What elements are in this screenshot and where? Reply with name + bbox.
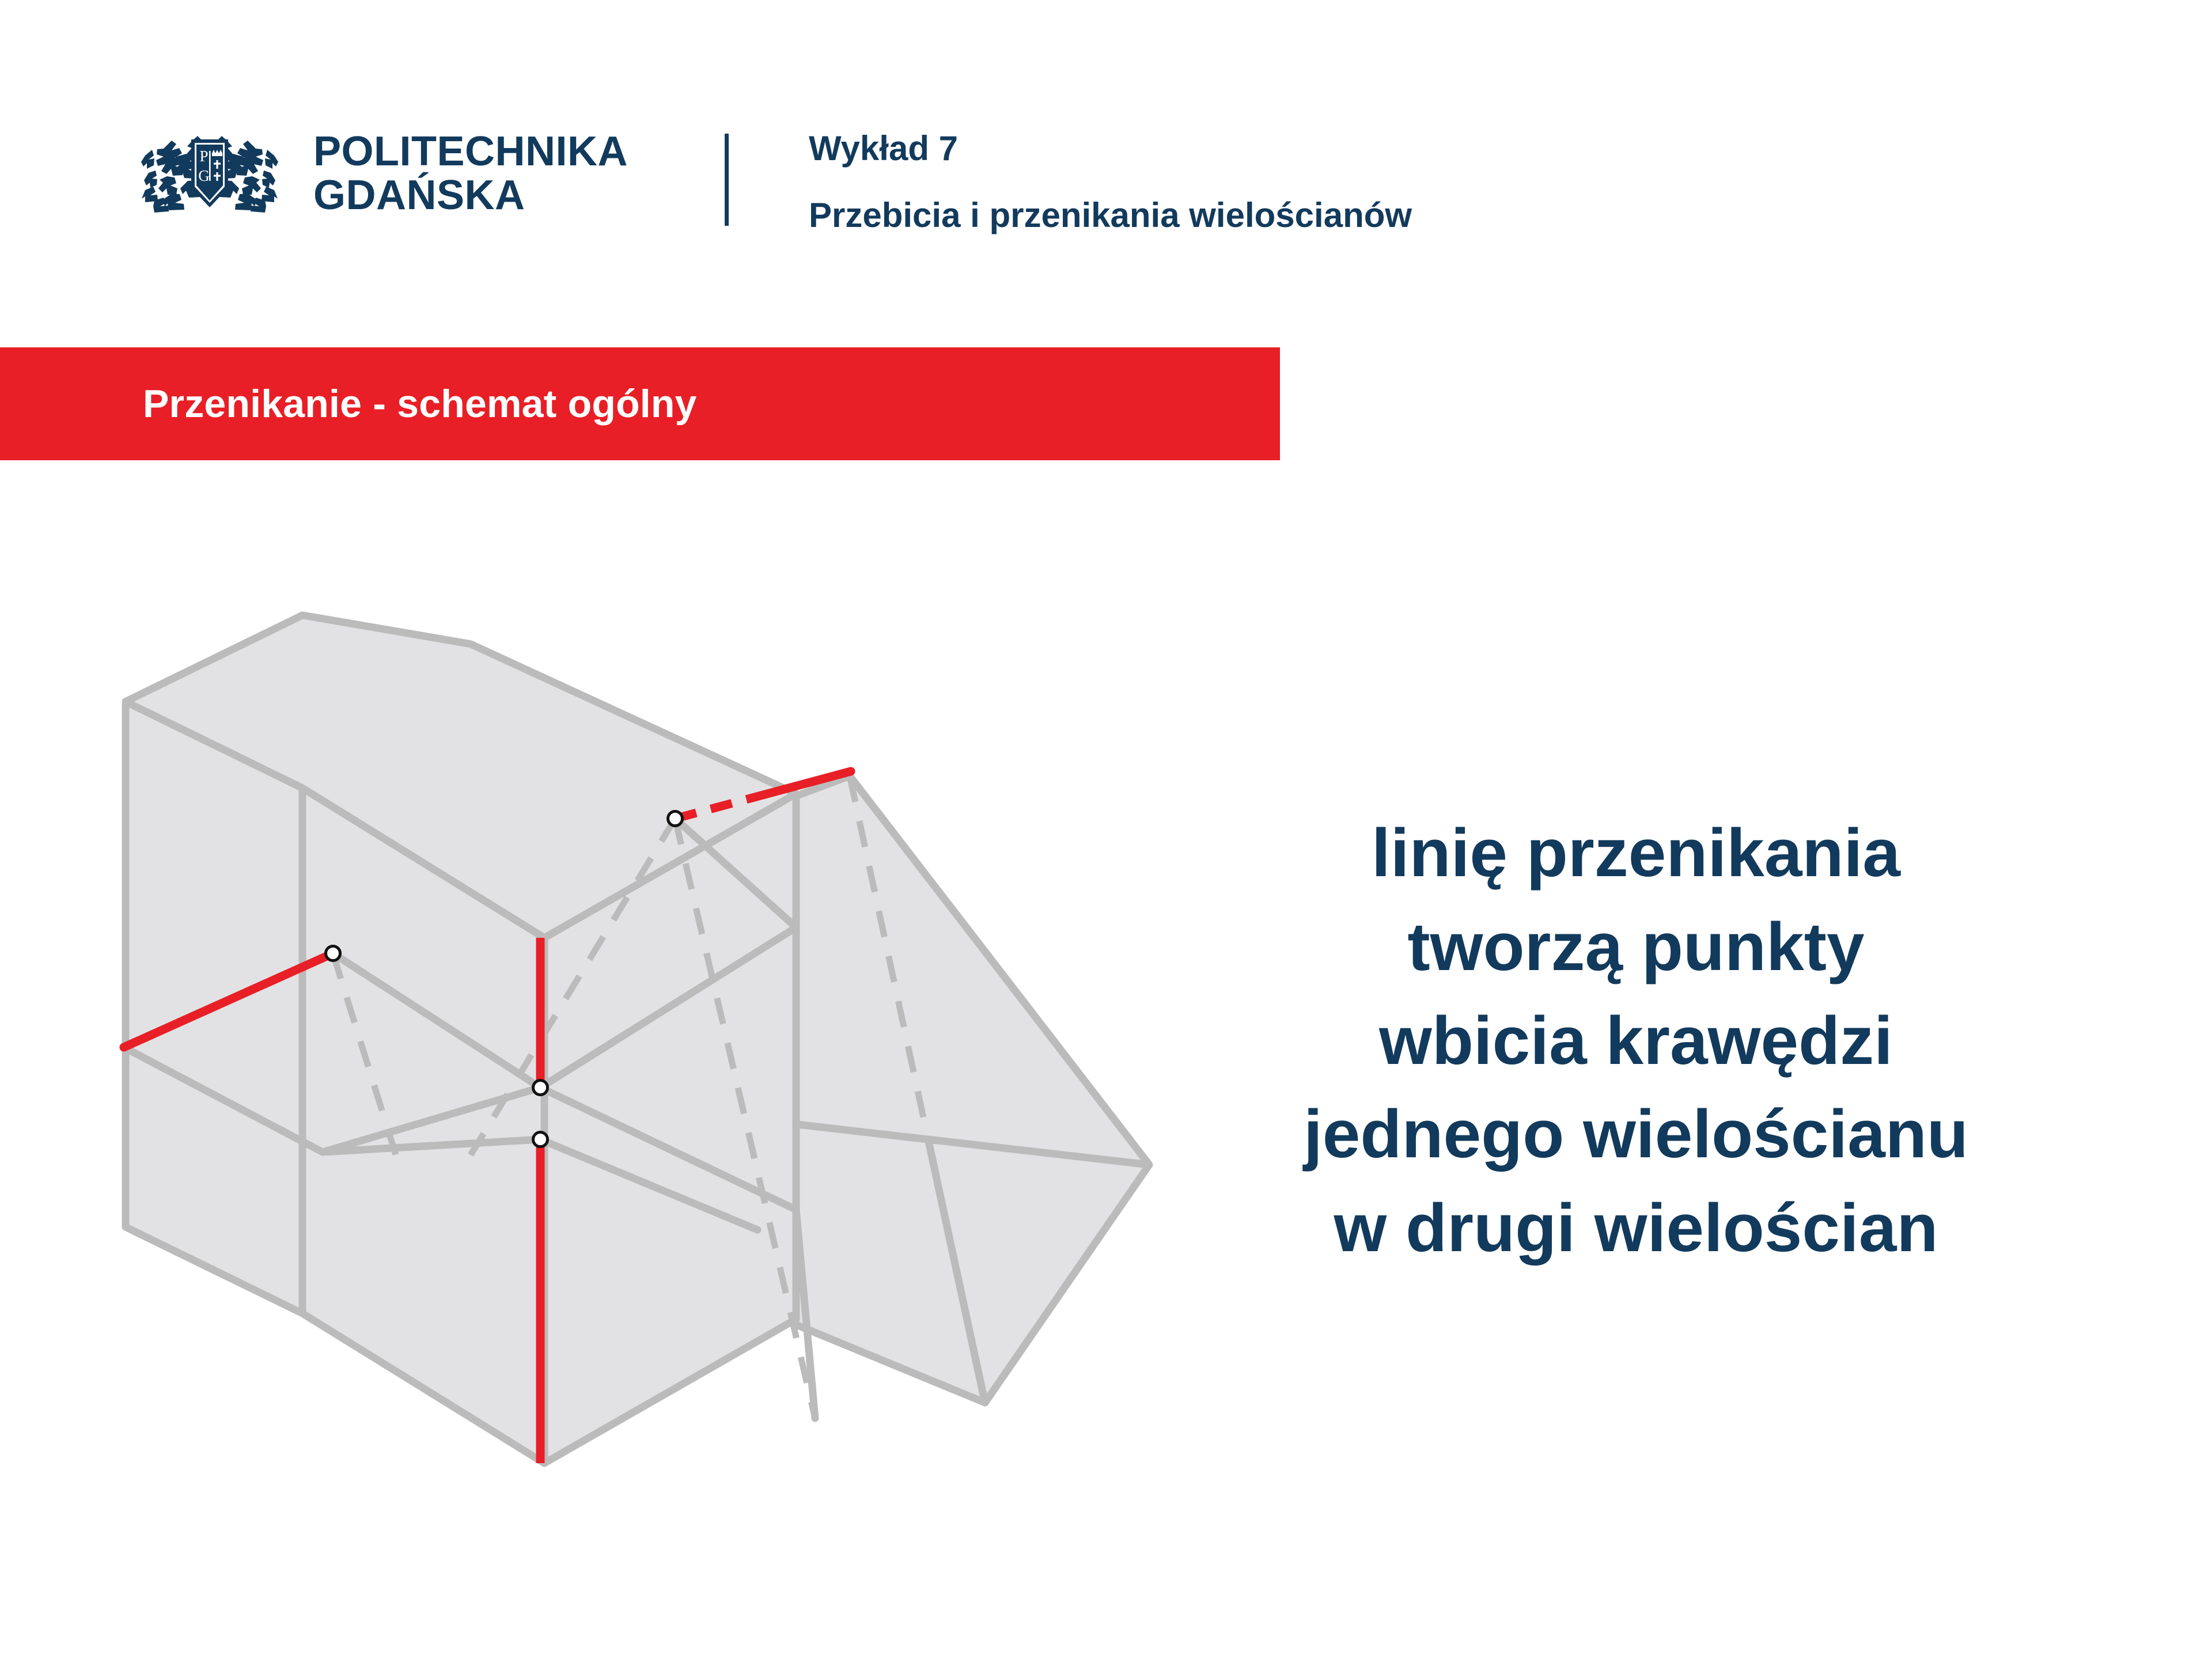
- caption-line-1: linię przenikania: [1169, 806, 2103, 900]
- intersecting-polyhedra-illustration: [69, 605, 1256, 1538]
- caption-line-2: tworzą punkty: [1169, 900, 2103, 994]
- lecture-topic: Przebicia i przenikania wielościanów: [809, 198, 1412, 233]
- vertical-divider-icon: [725, 134, 729, 226]
- svg-text:P: P: [199, 147, 208, 165]
- header-titles: Wykład 7 Przebicia i przenikania wielośc…: [809, 131, 1412, 233]
- pg-crest-icon: P G: [131, 128, 288, 219]
- logo-wordmark-line-2: GDAŃSKA: [313, 173, 628, 217]
- slide-header: P G POLITECHNIKA GDAŃSKA Wykład 7 Przebi…: [0, 0, 2212, 300]
- caption-line-5: w drugi wielościan: [1169, 1181, 2103, 1275]
- caption-line-4: jednego wielościanu: [1169, 1088, 2103, 1181]
- caption-line-3: wbicia krawędzi: [1169, 994, 2103, 1088]
- logo-wordmark: POLITECHNIKA GDAŃSKA: [313, 130, 628, 218]
- intersection-point-marker-upper-right: [668, 812, 683, 826]
- section-title-banner: Przenikanie - schemat ogólny: [0, 347, 1280, 460]
- geometry-diagram: [69, 605, 1256, 1538]
- svg-text:G: G: [198, 167, 210, 184]
- intersection-point-marker-mid-upper: [533, 1081, 548, 1095]
- lecture-number: Wykład 7: [809, 131, 1412, 166]
- intersection-point-marker-left: [326, 946, 340, 961]
- intersection-point-marker-mid-lower: [533, 1132, 548, 1147]
- university-logo: P G POLITECHNIKA GDAŃSKA: [131, 128, 628, 219]
- logo-wordmark-line-1: POLITECHNIKA: [313, 130, 628, 173]
- caption-text: linię przenikania tworzą punkty wbicia k…: [1169, 806, 2103, 1275]
- section-title: Przenikanie - schemat ogólny: [143, 381, 697, 426]
